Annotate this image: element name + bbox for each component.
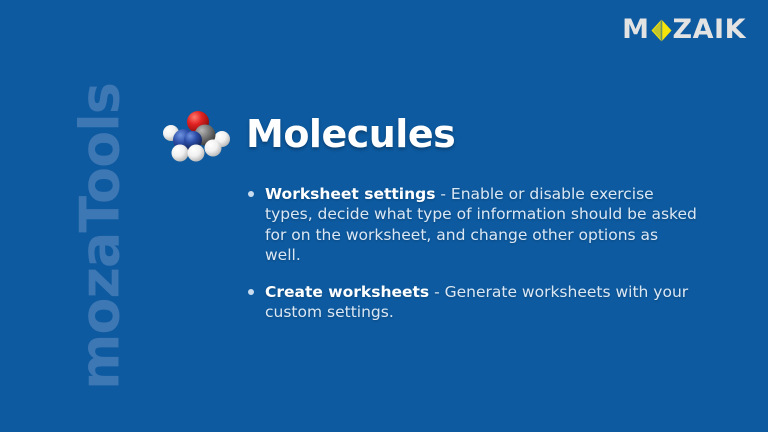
feature-list: Worksheet settings - Enable or disable e… xyxy=(246,168,698,323)
slide-root: M ZAIK mozaTools xyxy=(0,0,768,432)
page-title: Molecules xyxy=(246,112,455,156)
bullet-dot-icon xyxy=(248,191,254,197)
diamond-icon xyxy=(651,19,672,42)
vertical-brand-label: mozaTools xyxy=(69,72,132,402)
logo-text-zaik: ZAIK xyxy=(673,15,746,45)
list-item: Create worksheets - Generate worksheets … xyxy=(246,282,698,323)
bullet-dot-icon xyxy=(248,289,254,295)
mozaik-logo: M ZAIK xyxy=(622,15,746,45)
vertical-brand-watermark: mozaTools xyxy=(0,0,160,432)
logo-text-m: M xyxy=(622,15,649,45)
molecule-icon xyxy=(160,106,232,162)
page-header: Molecules xyxy=(160,106,455,162)
feature-lead: Create worksheets xyxy=(265,283,429,301)
list-item: Worksheet settings - Enable or disable e… xyxy=(246,184,698,266)
feature-lead: Worksheet settings xyxy=(265,185,435,203)
